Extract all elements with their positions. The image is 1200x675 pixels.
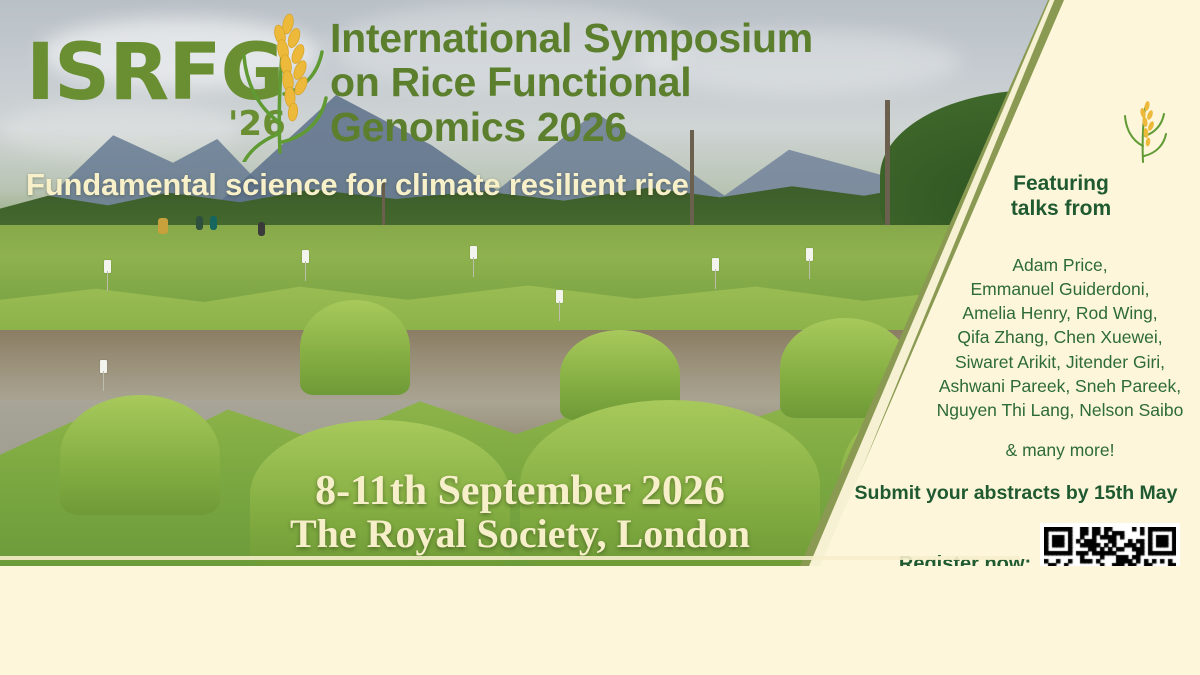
conference-poster: ISRFG '26 bbox=[0, 0, 1200, 675]
title-line-2: on Rice Functional bbox=[330, 60, 950, 104]
list-item: Ashwani Pareek, Sneh Pareek, bbox=[930, 374, 1190, 398]
field-marker bbox=[100, 360, 107, 373]
title-line-3: Genomics 2026 bbox=[330, 105, 950, 149]
page-title: International Symposium on Rice Function… bbox=[330, 16, 950, 149]
field-worker bbox=[210, 216, 217, 230]
list-item: Siwaret Arikit, Jitender Giri, bbox=[930, 350, 1190, 374]
field-marker bbox=[470, 246, 477, 259]
field-worker bbox=[258, 222, 265, 236]
list-item: Emmanuel Guiderdoni, bbox=[930, 277, 1190, 301]
field-marker bbox=[104, 260, 111, 273]
more-speakers-note: & many more! bbox=[930, 440, 1190, 461]
list-item: Nguyen Thi Lang, Nelson Saibo bbox=[930, 398, 1190, 422]
featuring-heading-line-2: talks from bbox=[936, 197, 1186, 222]
rice-clump bbox=[300, 300, 410, 395]
abstract-deadline: Submit your abstracts by 15th May bbox=[846, 482, 1186, 505]
featuring-heading-line-1: Featuring bbox=[936, 172, 1186, 197]
event-venue: The Royal Society, London bbox=[260, 513, 780, 555]
rice-stalk-icon bbox=[222, 2, 342, 162]
tagline: Fundamental science for climate resilien… bbox=[26, 167, 689, 203]
field-worker bbox=[196, 216, 203, 230]
field-marker bbox=[806, 248, 813, 261]
featuring-heading: Featuring talks from bbox=[936, 172, 1186, 222]
sponsor-bar: OryzaNet aab ASSOCIATION OF APPLIED BIOL… bbox=[0, 566, 1200, 675]
list-item: Amelia Henry, Rod Wing, bbox=[930, 301, 1190, 325]
event-dates: 8-11th September 2026 bbox=[260, 470, 780, 513]
field-marker bbox=[712, 258, 719, 271]
field-marker bbox=[302, 250, 309, 263]
title-line-1: International Symposium bbox=[330, 16, 950, 60]
rice-clump bbox=[60, 395, 220, 515]
rice-stalk-small-icon bbox=[1118, 96, 1170, 166]
speaker-list: Adam Price, Emmanuel Guiderdoni, Amelia … bbox=[930, 253, 1190, 422]
field-marker bbox=[556, 290, 563, 303]
divider bbox=[0, 556, 1020, 560]
list-item: Adam Price, bbox=[930, 253, 1190, 277]
field-equipment bbox=[158, 218, 168, 234]
list-item: Qifa Zhang, Chen Xuewei, bbox=[930, 325, 1190, 349]
event-details: 8-11th September 2026 The Royal Society,… bbox=[260, 470, 780, 555]
